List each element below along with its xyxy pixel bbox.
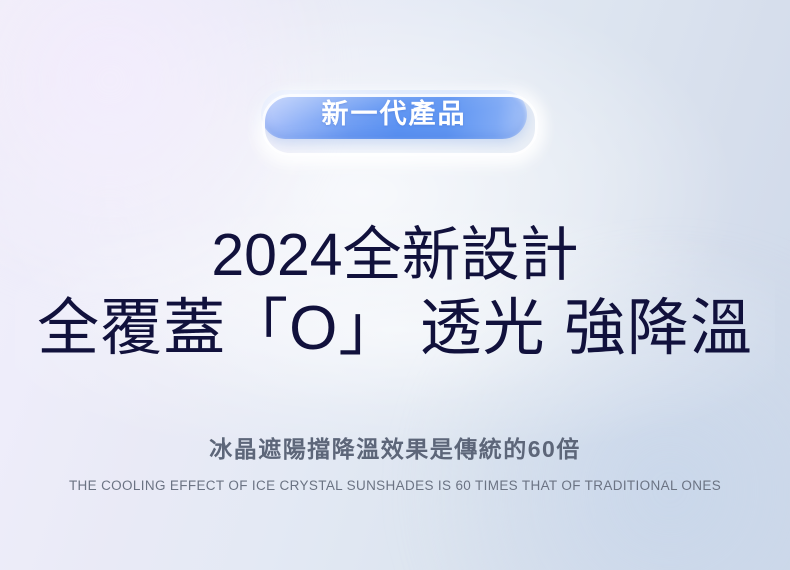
badge-pill-background: 新一代產品 (261, 90, 527, 139)
headline-line-1: 2024全新設計 (37, 222, 753, 288)
promo-banner: 新一代產品 2024全新設計 全覆蓋「O」 透光 強降溫 冰晶遮陽擋降溫效果是傳… (0, 0, 790, 570)
badge-label: 新一代產品 (322, 101, 467, 128)
subtitle-chinese: 冰晶遮陽擋降溫效果是傳統的60倍 (209, 430, 581, 464)
new-generation-badge[interactable]: 新一代產品 (261, 90, 529, 148)
banner-content: 新一代產品 2024全新設計 全覆蓋「O」 透光 強降溫 冰晶遮陽擋降溫效果是傳… (0, 0, 790, 570)
page-title: 2024全新設計 全覆蓋「O」 透光 強降溫 (37, 222, 753, 364)
headline-line-2: 全覆蓋「O」 透光 強降溫 (37, 294, 753, 363)
subtitle-english: THE COOLING EFFECT OF ICE CRYSTAL SUNSHA… (69, 478, 721, 493)
